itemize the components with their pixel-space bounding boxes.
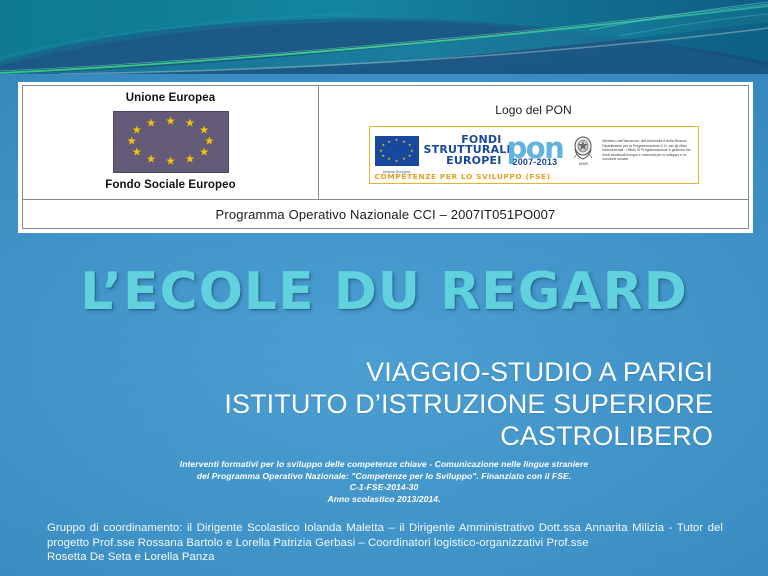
pon-eu-flag-caption: Unione Europea <box>375 170 419 174</box>
ministry-text: Ministero dell'Istruzione, dell'Universi… <box>599 139 693 161</box>
fondo-sociale-europeo-label: Fondo Sociale Europeo <box>105 179 236 191</box>
logo-del-pon-cell: Logo del PON ★ ★ ★ ★ ★ ★ ★ <box>319 86 748 199</box>
slide-canvas: Unione Europea ★ ★ ★ ★ ★ ★ ★ ★ ★ ★ ★ ★ <box>0 0 768 576</box>
subtitle-line-1: VIAGGIO-STUDIO A PARIGI <box>73 356 713 388</box>
eu-pon-header-table: Unione Europea ★ ★ ★ ★ ★ ★ ★ ★ ★ ★ ★ ★ <box>18 82 753 233</box>
funding-note-line-2: del Programma Operativo Nazionale: "Comp… <box>0 471 768 483</box>
funding-note-school-year: Anno scolastico 2013/2014. <box>0 494 768 506</box>
funding-note-block: Interventi formativi per lo sviluppo del… <box>0 459 768 505</box>
miur-emblem-icon <box>572 135 594 161</box>
pon-logo: ★ ★ ★ ★ ★ ★ ★ ★ ★ ★ <box>369 126 699 184</box>
funding-note-code: C-1-FSE-2014-30 <box>0 482 768 494</box>
funding-note-line-1: Interventi formativi per lo sviluppo del… <box>0 459 768 471</box>
unione-europea-label: Unione Europea <box>126 92 216 104</box>
coordination-body: Gruppo di coordinamento: il Dirigente Sc… <box>47 522 723 549</box>
coordination-last-line: Rosetta De Seta e Lorella Panza <box>47 550 723 565</box>
eu-flag-icon: ★ ★ ★ ★ ★ ★ ★ ★ ★ ★ ★ ★ <box>113 111 229 173</box>
subtitle-line-2: ISTITUTO D’ISTRUZIONE SUPERIORE <box>73 388 713 420</box>
subtitle-line-3: CASTROLIBERO <box>73 420 713 452</box>
pon-eu-flag-icon: ★ ★ ★ ★ ★ ★ ★ ★ ★ ★ <box>375 136 419 166</box>
subtitle-block: VIAGGIO-STUDIO A PARIGI ISTITUTO D’ISTRU… <box>73 356 713 452</box>
pon-years: 2007-2013 <box>512 157 557 167</box>
programma-operativo-line: Programma Operativo Nazionale CCI – 2007… <box>216 207 556 222</box>
decorative-wave-band <box>0 0 768 74</box>
fondi-strutturali-europei-text: FONDI STRUTTURALI EUROPEI <box>424 135 502 167</box>
coordination-paragraph: Gruppo di coordinamento: il Dirigente Sc… <box>47 521 723 565</box>
page-title: L’ECOLE DU REGARD <box>0 263 768 321</box>
miur-caption: MIUR <box>579 162 588 166</box>
competenze-sviluppo-strip: COMPETENZE PER LO SVILUPPO (FSE) <box>375 172 694 181</box>
logo-del-pon-label: Logo del PON <box>495 103 572 117</box>
europei-word: EUROPEI <box>424 156 502 167</box>
unione-europea-cell: Unione Europea ★ ★ ★ ★ ★ ★ ★ ★ ★ ★ ★ ★ <box>23 86 319 199</box>
